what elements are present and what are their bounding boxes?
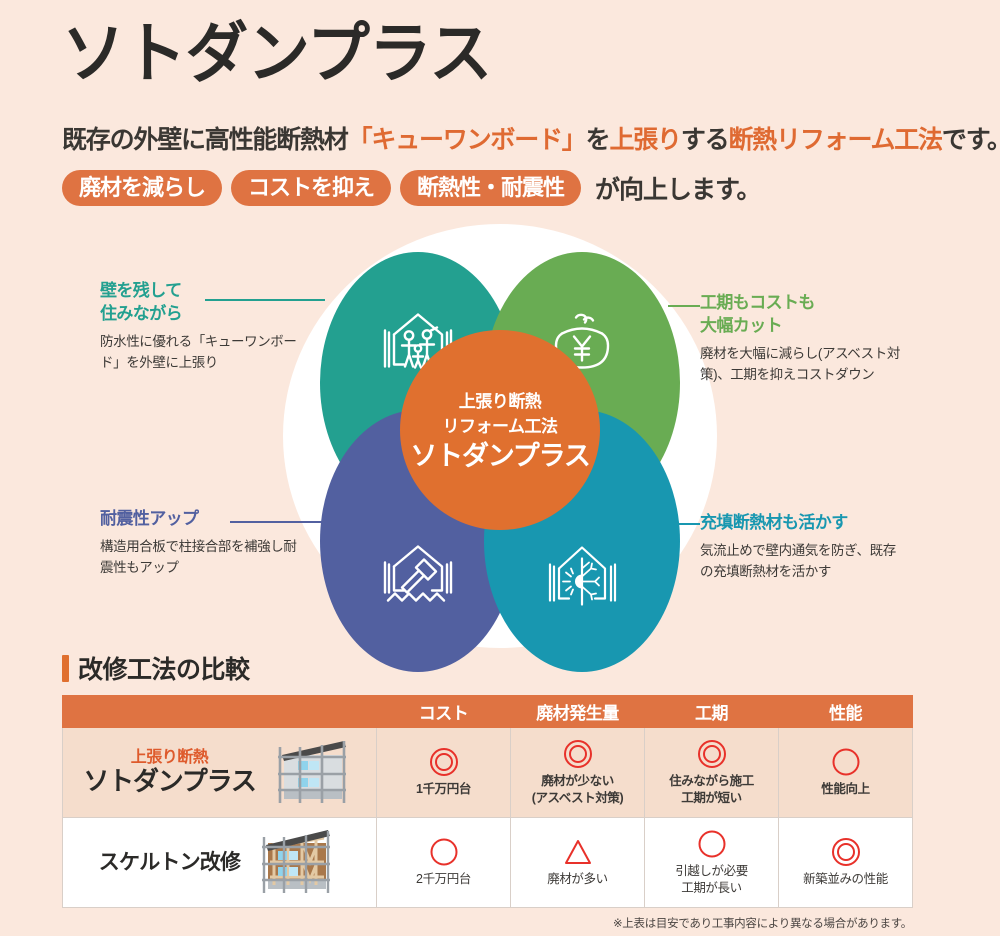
cell-note: 新築並みの性能 [803, 871, 888, 888]
circle-icon [697, 829, 727, 859]
comparison-table: コスト 廃材発生量 工期 性能 上張り断熱 ソトダンプラス [62, 695, 913, 908]
callout-title-line1: 充填断熱材も活かす [700, 512, 900, 535]
badge-tail-text: が向上します。 [595, 170, 761, 206]
th-duration: 工期 [645, 696, 779, 728]
double-circle-icon [563, 739, 593, 769]
lead-part-0: 既存の外壁に高性能断熱材 [62, 126, 348, 154]
triangle-icon [563, 837, 593, 867]
callout-cost-cut: 工期もコストも 大幅カット 廃材を大幅に減らし(アスベスト対策)、工期を抑えコス… [700, 292, 900, 386]
th-waste: 廃材発生量 [511, 696, 645, 728]
cell-waste: 廃材が少ない (アスベスト対策) [511, 728, 645, 818]
th-performance: 性能 [779, 696, 913, 728]
row-label-sotodan: 上張り断熱 ソトダンプラス [63, 728, 377, 818]
leader-line-bottom-right [668, 523, 700, 525]
cell-note-line1: 住みながら施工 [669, 774, 754, 788]
core-line2: リフォーム工法 [443, 415, 558, 440]
double-circle-icon [429, 747, 459, 777]
cell-note-line2: 工期が長い [681, 881, 742, 895]
callout-title-line1: 壁を残して [100, 280, 300, 303]
core-brand: ソトダンプラス [410, 443, 589, 470]
table-header-row: コスト 廃材発生量 工期 性能 [63, 696, 913, 728]
double-circle-icon [697, 739, 727, 769]
callout-title-line1: 工期もコストも [700, 292, 900, 315]
cell-performance: 性能向上 [779, 728, 913, 818]
table-footnote: ※上表は目安であり工事内容により異なる場合があります。 [62, 915, 912, 931]
cell-cost: 1千万円台 [377, 728, 511, 818]
cell-note: 性能向上 [821, 781, 869, 798]
lead-part-2: を [586, 126, 610, 154]
cell-duration: 引越しが必要 工期が長い [645, 818, 779, 908]
callout-title-line2: 住みながら [100, 303, 300, 326]
infographic-page: ソトダンプラス 既存の外壁に高性能断熱材「キューワンボード」を上張りする断熱リフ… [0, 0, 1000, 936]
callout-title-line1: 耐震性アップ [100, 508, 300, 531]
th-blank [63, 696, 377, 728]
core-line1: 上張り断熱 [443, 390, 558, 415]
callout-wall-retained: 壁を残して 住みながら 防水性に優れる「キューワンボード」を外壁に上張り [100, 280, 300, 374]
lead-part-1: 「キューワンボード」 [348, 126, 586, 154]
rc-building-icon [270, 735, 356, 810]
page-title: ソトダンプラス [62, 20, 491, 86]
callout-body: 廃材を大幅に減らし(アスベスト対策)、工期を抑えコストダウン [700, 344, 900, 386]
double-circle-icon [831, 837, 861, 867]
cell-note: 1千万円台 [416, 781, 471, 798]
lead-sentence: 既存の外壁に高性能断熱材「キューワンボード」を上張りする断熱リフォーム工法です。 [62, 120, 1000, 156]
circle-icon [831, 747, 861, 777]
header: ソトダンプラス 既存の外壁に高性能断熱材「キューワンボード」を上張りする断熱リフ… [0, 0, 1000, 215]
section-accent-bar [62, 655, 69, 682]
table-row: スケルトン改修 [63, 818, 913, 908]
section-heading: 改修工法の比較 [62, 650, 912, 686]
lead-part-5: 断熱リフォーム工法 [728, 126, 941, 154]
wood-frame-building-icon [254, 825, 340, 900]
cell-note-line2: 工期が短い [681, 791, 742, 805]
row-label-skeleton: スケルトン改修 [63, 818, 377, 908]
lead-part-4: する [681, 126, 729, 154]
cell-note-line1: 廃材が少ない [541, 774, 614, 788]
row-label-small: 上張り断熱 [83, 749, 255, 767]
row-label-plain: スケルトン改修 [99, 851, 240, 875]
core-badge: 上張り断熱 リフォーム工法 ソトダンプラス [400, 330, 600, 530]
callout-title-line2: 大幅カット [700, 315, 900, 338]
cell-waste: 廃材が多い [511, 818, 645, 908]
cell-note-line1: 引越しが必要 [675, 864, 748, 878]
comparison-section: 改修工法の比較 コスト 廃材発生量 工期 性能 [62, 650, 912, 931]
section-heading-text: 改修工法の比較 [78, 650, 250, 686]
cell-duration: 住みながら施工 工期が短い [645, 728, 779, 818]
table-row: 上張り断熱 ソトダンプラス [63, 728, 913, 818]
leader-line-top-right [668, 305, 700, 307]
cell-note: 廃材が多い [547, 871, 608, 888]
circle-icon [429, 837, 459, 867]
callout-body: 構造用合板で柱接合部を補強し耐震性もアップ [100, 537, 300, 579]
lead-part-3: 上張り [609, 126, 680, 154]
callout-fill-insulation: 充填断熱材も活かす 気流止めで壁内通気を防ぎ、既存の充填断熱材を活かす [700, 512, 900, 583]
house-sun-snowflake-icon [537, 535, 627, 624]
badge-row: 廃材を減らし コストを抑え 断熱性・耐震性 が向上します。 [62, 170, 761, 206]
callout-earthquake-resistance: 耐震性アップ 構造用合板で柱接合部を補強し耐震性もアップ [100, 508, 300, 579]
cell-cost: 2千万円台 [377, 818, 511, 908]
house-hammer-icon [374, 535, 462, 624]
cell-performance: 新築並みの性能 [779, 818, 913, 908]
callout-body: 気流止めで壁内通気を防ぎ、既存の充填断熱材を活かす [700, 541, 900, 583]
th-cost: コスト [377, 696, 511, 728]
cell-note-line2: (アスベスト対策) [532, 791, 624, 805]
row-label-big: ソトダンプラス [83, 767, 255, 796]
badge-waste: 廃材を減らし [62, 170, 222, 206]
callout-body: 防水性に優れる「キューワンボード」を外壁に上張り [100, 332, 300, 374]
cell-note: 2千万円台 [416, 871, 471, 888]
venn-diagram: 上張り断熱 リフォーム工法 ソトダンプラス 壁を残して 住みながら 防水性に優れ… [0, 212, 1000, 642]
lead-part-6: です。 [942, 126, 1000, 154]
badge-insulation-quake: 断熱性・耐震性 [400, 170, 581, 206]
badge-cost: コストを抑え [231, 170, 391, 206]
